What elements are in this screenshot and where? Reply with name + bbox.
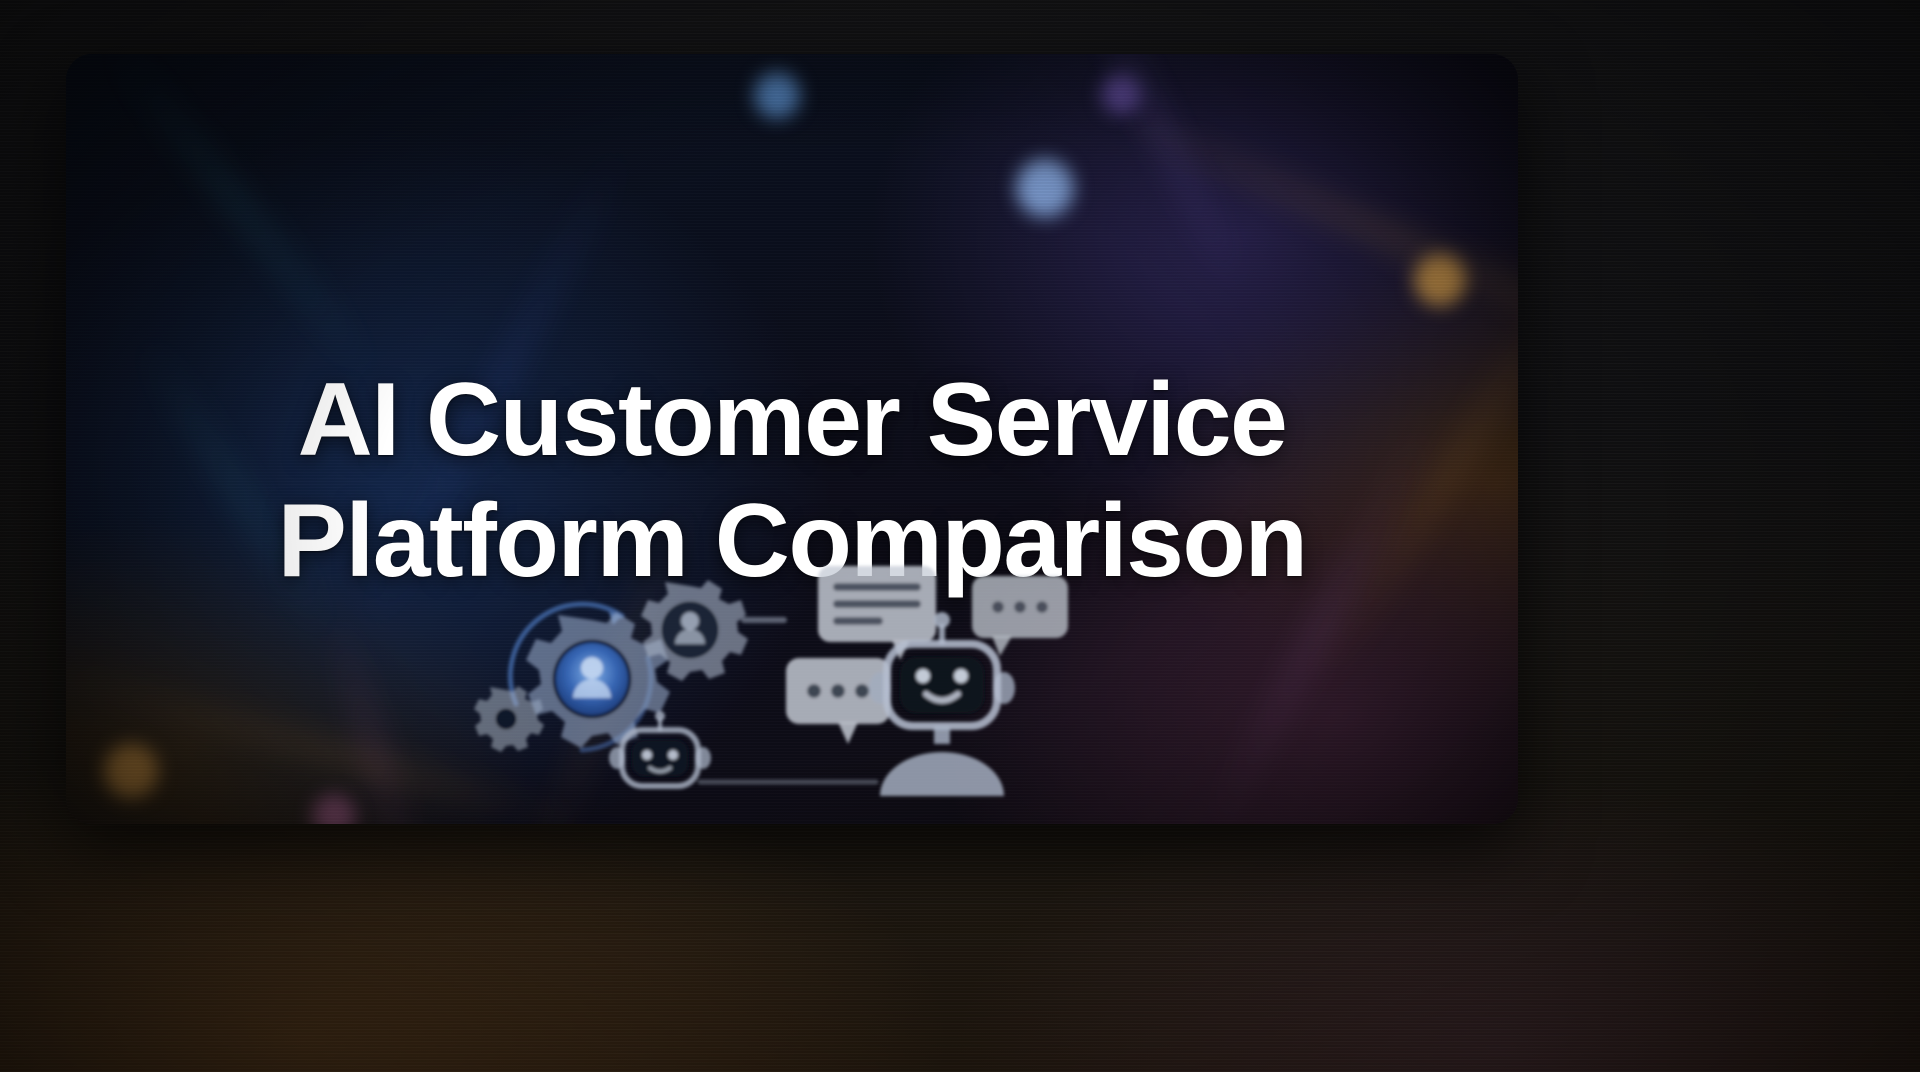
violet-streak-top: [1068, 54, 1244, 292]
node-blue-mid: [1016, 159, 1074, 217]
pink-streak-bottom-left: [330, 613, 421, 824]
chat-bubble-dots-right-icon: [972, 576, 1068, 656]
node-amber-bottom-left: [104, 744, 158, 798]
slide-root: AI Customer Service Platform Comparison: [0, 0, 1920, 1072]
node-blue-top: [754, 72, 800, 118]
teal-streak-upper-left: [105, 54, 376, 380]
node-pink-bottom-left: [312, 794, 356, 824]
node-violet-top-right: [1101, 74, 1141, 114]
hero-illustration: [472, 554, 1112, 804]
hero-card: AI Customer Service Platform Comparison: [66, 54, 1518, 824]
node-amber-right: [1414, 254, 1466, 306]
